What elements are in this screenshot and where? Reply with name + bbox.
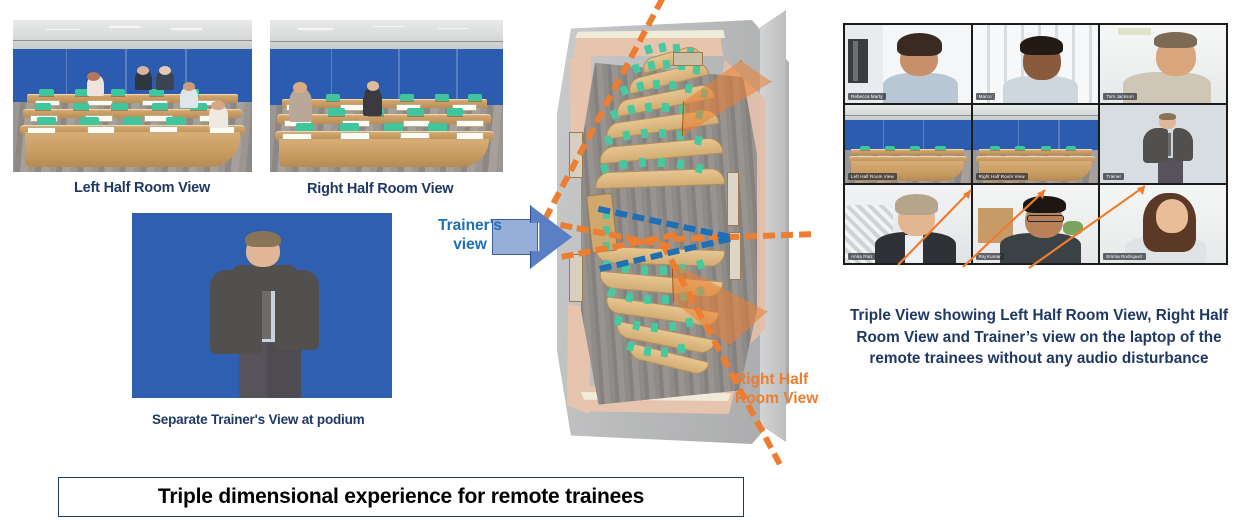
leader-line-right-room bbox=[963, 190, 1045, 267]
nameplate bbox=[87, 100, 113, 107]
avatar bbox=[897, 33, 942, 56]
label-trainers-view: Trainer's view bbox=[424, 216, 516, 255]
bottom-banner: Triple dimensional experience for remote… bbox=[58, 477, 744, 517]
avatar bbox=[1154, 32, 1197, 48]
nameplate bbox=[400, 132, 430, 139]
video-tile[interactable]: Tom Jackson bbox=[1100, 25, 1226, 103]
leader-line-left-room bbox=[898, 190, 971, 265]
tile-name-label: Rebecca Marty bbox=[848, 93, 886, 100]
photo-trainer-at-podium bbox=[132, 213, 392, 398]
avatar bbox=[1020, 36, 1063, 55]
trainer-hair bbox=[245, 231, 281, 248]
nameplate bbox=[456, 120, 484, 127]
seated-person bbox=[87, 72, 100, 81]
label-right-half-line2: Room View bbox=[735, 390, 845, 409]
video-tile[interactable]: Marco bbox=[973, 25, 1099, 103]
seated-person bbox=[159, 66, 171, 75]
photo-right-half-room bbox=[270, 20, 503, 172]
seated-person bbox=[289, 88, 312, 121]
nameplate bbox=[149, 126, 177, 133]
caption-left-half-room: Left Half Room View bbox=[74, 180, 210, 196]
label-trainers-view-line2: view bbox=[424, 235, 516, 254]
caption-trainer-photo: Separate Trainer's View at podium bbox=[152, 412, 364, 427]
ceiling bbox=[13, 20, 252, 49]
leader-lines bbox=[843, 150, 1233, 315]
nameplate bbox=[403, 120, 431, 127]
tile-name-label: Marco bbox=[976, 93, 995, 100]
video-tile[interactable]: Rebecca Marty bbox=[845, 25, 971, 103]
seated-person bbox=[367, 81, 380, 91]
seated-person bbox=[137, 66, 149, 75]
label-trainers-view-line1: Trainer's bbox=[424, 216, 516, 235]
nameplate bbox=[340, 132, 370, 139]
seated-person bbox=[363, 87, 382, 116]
nameplate bbox=[456, 132, 484, 139]
nameplate bbox=[87, 126, 115, 133]
banner-title: Triple dimensional experience for remote… bbox=[158, 485, 644, 509]
tile-name-label: Tom Jackson bbox=[1103, 93, 1136, 100]
photo-left-half-room bbox=[13, 20, 252, 172]
ceiling bbox=[270, 20, 503, 49]
leader-line-trainer bbox=[1029, 186, 1145, 268]
avatar bbox=[1003, 76, 1078, 103]
label-right-half-line1: Right Half bbox=[735, 371, 845, 390]
nameplate bbox=[282, 133, 312, 140]
nameplate bbox=[27, 127, 55, 134]
seated-person bbox=[211, 101, 224, 111]
caption-right-half-room: Right Half Room View bbox=[307, 181, 453, 197]
label-right-half-room-view: Right Half Room View bbox=[735, 371, 845, 409]
triple-view-description: Triple View showing Left Half Room View,… bbox=[848, 305, 1230, 370]
avatar bbox=[883, 73, 958, 103]
